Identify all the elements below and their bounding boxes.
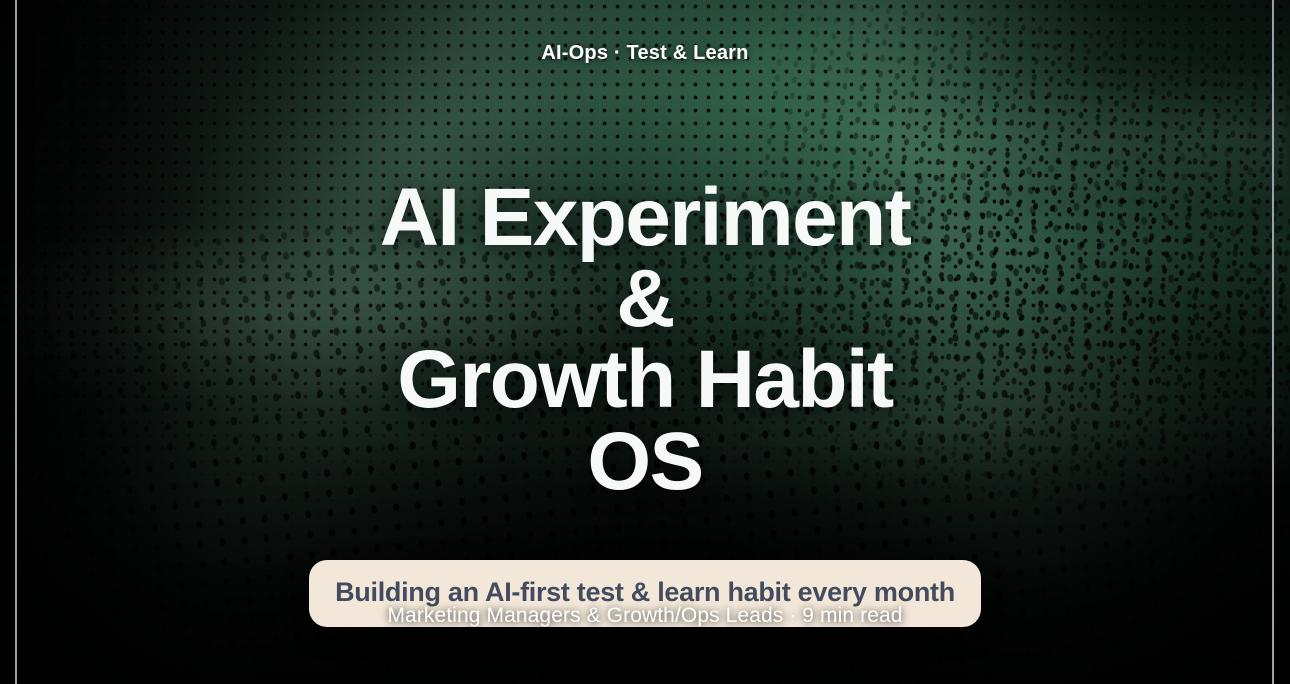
title-slide: AI-Ops · Test & Learn AI Experiment & Gr… bbox=[0, 0, 1290, 684]
page-title-line-1: AI Experiment & bbox=[380, 172, 911, 344]
eyebrow-label: AI-Ops · Test & Learn bbox=[541, 42, 748, 65]
page-title: AI Experiment & Growth Habit OS bbox=[345, 177, 945, 502]
subtitle-pill-text: Building an AI-first test & learn habit … bbox=[335, 577, 955, 607]
audience-and-read-time: Marketing Managers & Growth/Ops Leads · … bbox=[0, 604, 1290, 628]
page-title-line-2: Growth Habit OS bbox=[397, 334, 893, 506]
slide-content: AI-Ops · Test & Learn AI Experiment & Gr… bbox=[0, 0, 1290, 684]
